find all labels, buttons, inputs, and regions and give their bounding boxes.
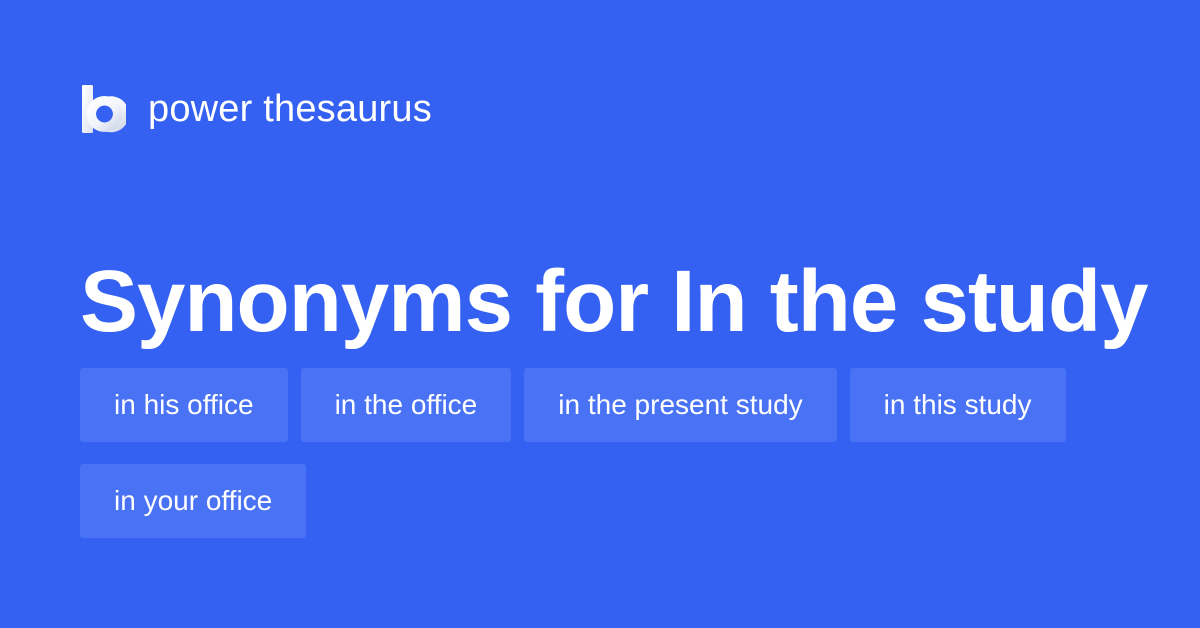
synonym-chip[interactable]: in this study <box>850 368 1066 442</box>
synonym-label: in your office <box>114 484 272 518</box>
synonym-label: in his office <box>114 388 254 422</box>
brand-header[interactable]: power thesaurus <box>80 78 432 140</box>
power-thesaurus-logo-icon <box>80 84 126 134</box>
synonyms-share-card: power thesaurus Synonyms for In the stud… <box>0 0 1200 628</box>
page-title: Synonyms for In the study <box>80 250 1140 354</box>
synonym-label: in the office <box>335 388 478 422</box>
synonym-list: in his office in the office in the prese… <box>80 368 1120 538</box>
synonym-chip[interactable]: in the present study <box>524 368 836 442</box>
page-title-prefix: Synonyms for <box>80 253 671 350</box>
synonym-chip[interactable]: in his office <box>80 368 288 442</box>
synonym-chip[interactable]: in your office <box>80 464 306 538</box>
synonym-chip[interactable]: in the office <box>301 368 512 442</box>
page-title-term: In the study <box>671 253 1147 350</box>
synonym-label: in the present study <box>558 388 802 422</box>
synonym-label: in this study <box>884 388 1032 422</box>
brand-name: power thesaurus <box>148 86 432 132</box>
